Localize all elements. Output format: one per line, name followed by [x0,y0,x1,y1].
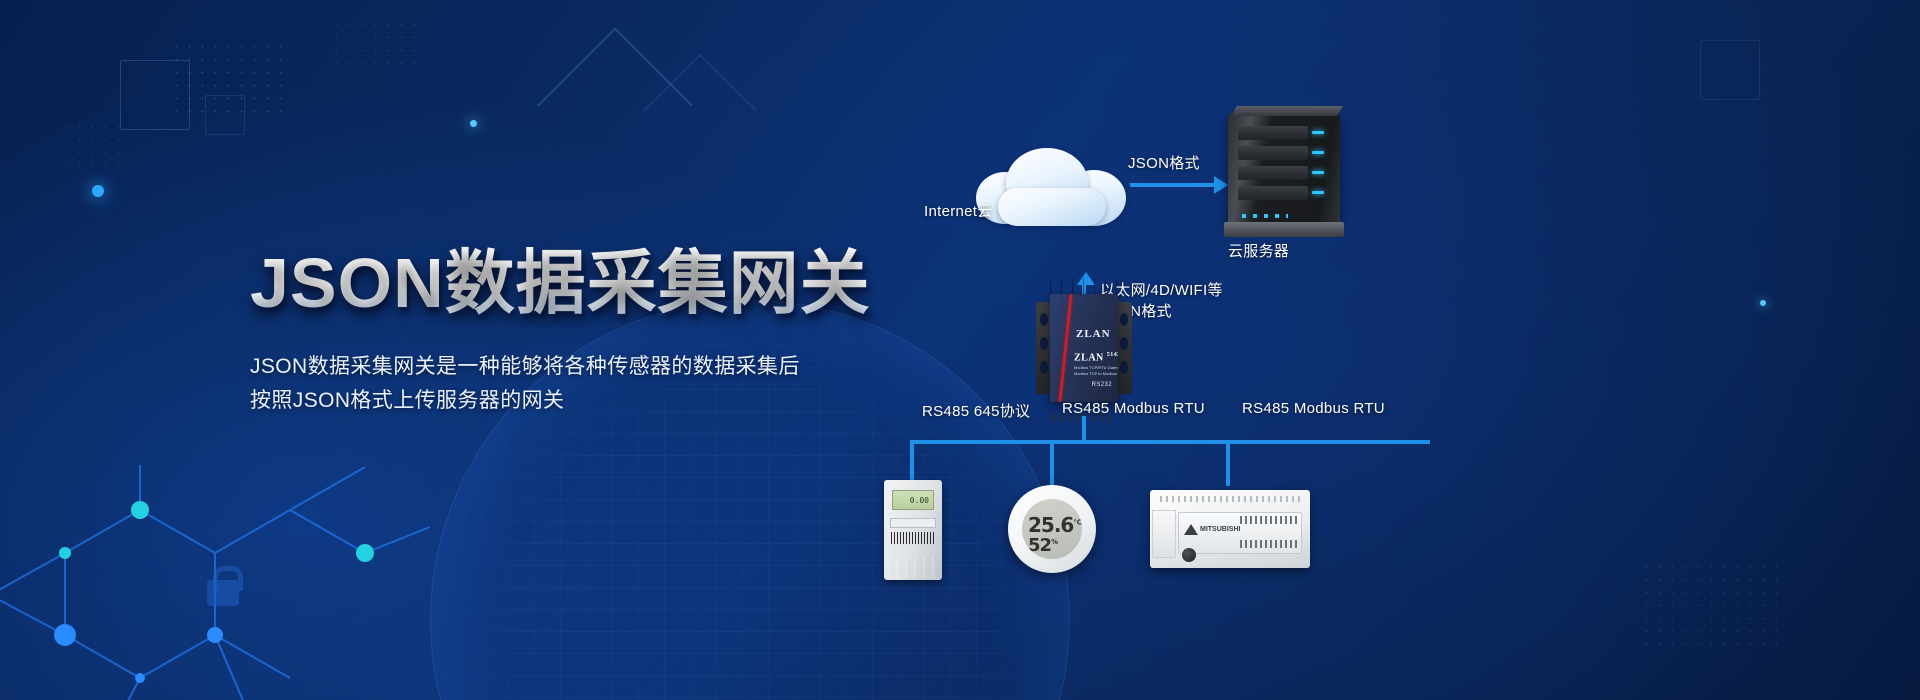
cloud-server-icon [1228,114,1340,224]
glow-dot-decoration [92,185,104,197]
gateway-brand-logo: ZLAN [1076,328,1111,340]
gateway-downlink-stem [1082,416,1086,442]
page-title: JSON数据采集网关 [250,246,870,320]
circuit-square-decoration [120,60,190,130]
meter-terminals [887,556,939,578]
internet-cloud-icon [976,148,1126,226]
cloud-to-server-label: JSON格式 [1128,152,1200,173]
plc-io-terminals-bottom [1240,540,1298,548]
hero-description-line-2: 按照JSON格式上传服务器的网关 [250,384,870,418]
gateway-mount-ear-right [1116,302,1132,394]
hero-description-line-1: JSON数据采集网关是一种能够将各种传感器的数据采集后 [250,350,870,384]
plc-brand-label: MITSUBISHI [1200,526,1240,533]
sensor-humidity-reading: 52% [1028,535,1076,556]
downlink-label-1: RS485 Modbus RTU [1062,400,1205,417]
temperature-humidity-sensor-device: 25.6℃ 52% [1008,485,1096,573]
plc-side-panel [1152,510,1176,558]
plc-controller-device: MITSUBISHI [1150,490,1310,568]
downlink-bus-line [910,440,1430,444]
downlink-label-0: RS485 645协议 [922,400,1030,421]
chevron-decoration [643,53,756,166]
server-label: 云服务器 [1228,240,1289,261]
cloud-to-server-line [1130,183,1214,187]
zlan-gateway-device: ZLAN ZLAN 5143 Modbus TCP/RTU Gateway Mo… [1036,280,1132,416]
glow-dot-decoration [470,120,477,127]
dot-grid-decoration [60,120,130,170]
gateway-port-label: RS232 [1092,382,1112,388]
lock-icon [207,580,239,606]
dot-grid-decoration [170,40,290,120]
sensor-temperature-reading: 25.6℃ [1028,513,1076,537]
hero-copy: JSON数据采集网关 JSON数据采集网关是一种能够将各种传感器的数据采集后 按… [250,246,870,418]
cloud-to-server-arrowhead [1214,176,1228,194]
dot-grid-decoration [330,18,420,76]
circuit-square-decoration [205,95,245,135]
plc-vent [1160,496,1300,502]
meter-lcd: 0.00 [892,490,934,510]
cloud-label: Internet云 [924,200,993,221]
gateway-model-label: ZLAN 5143 [1074,352,1118,363]
mitsubishi-logo-icon [1184,524,1198,535]
hexagon-network-graphic [0,455,520,700]
downlink-branch-plc [1226,440,1230,486]
gateway-terminal-block [1050,278,1118,294]
electric-meter-device: 0.00 [884,480,942,580]
hero-description: JSON数据采集网关是一种能够将各种传感器的数据采集后 按照JSON格式上传服务… [250,350,870,418]
gateway-subtitle: Modbus TCP/RTU Gateway Modbus TCP to Mod… [1074,365,1118,376]
architecture-diagram: Internet云 JSON格式 云服务器 以太网/4D/WIFI等 JSON格… [860,80,1920,640]
sensor-lcd: 25.6℃ 52% [1022,499,1082,559]
gateway-body: ZLAN ZLAN 5143 Modbus TCP/RTU Gateway Mo… [1050,294,1118,402]
chevron-decoration [537,27,693,183]
plc-io-terminals-top [1240,516,1298,524]
meter-nameplate [890,518,936,528]
downlink-label-2: RS485 Modbus RTU [1242,400,1385,417]
plc-knob [1182,548,1196,562]
meter-barcode [891,532,935,544]
hero-banner: JSON数据采集网关 JSON数据采集网关是一种能够将各种传感器的数据采集后 按… [0,0,1920,700]
downlink-branch-sensor [1050,440,1054,486]
